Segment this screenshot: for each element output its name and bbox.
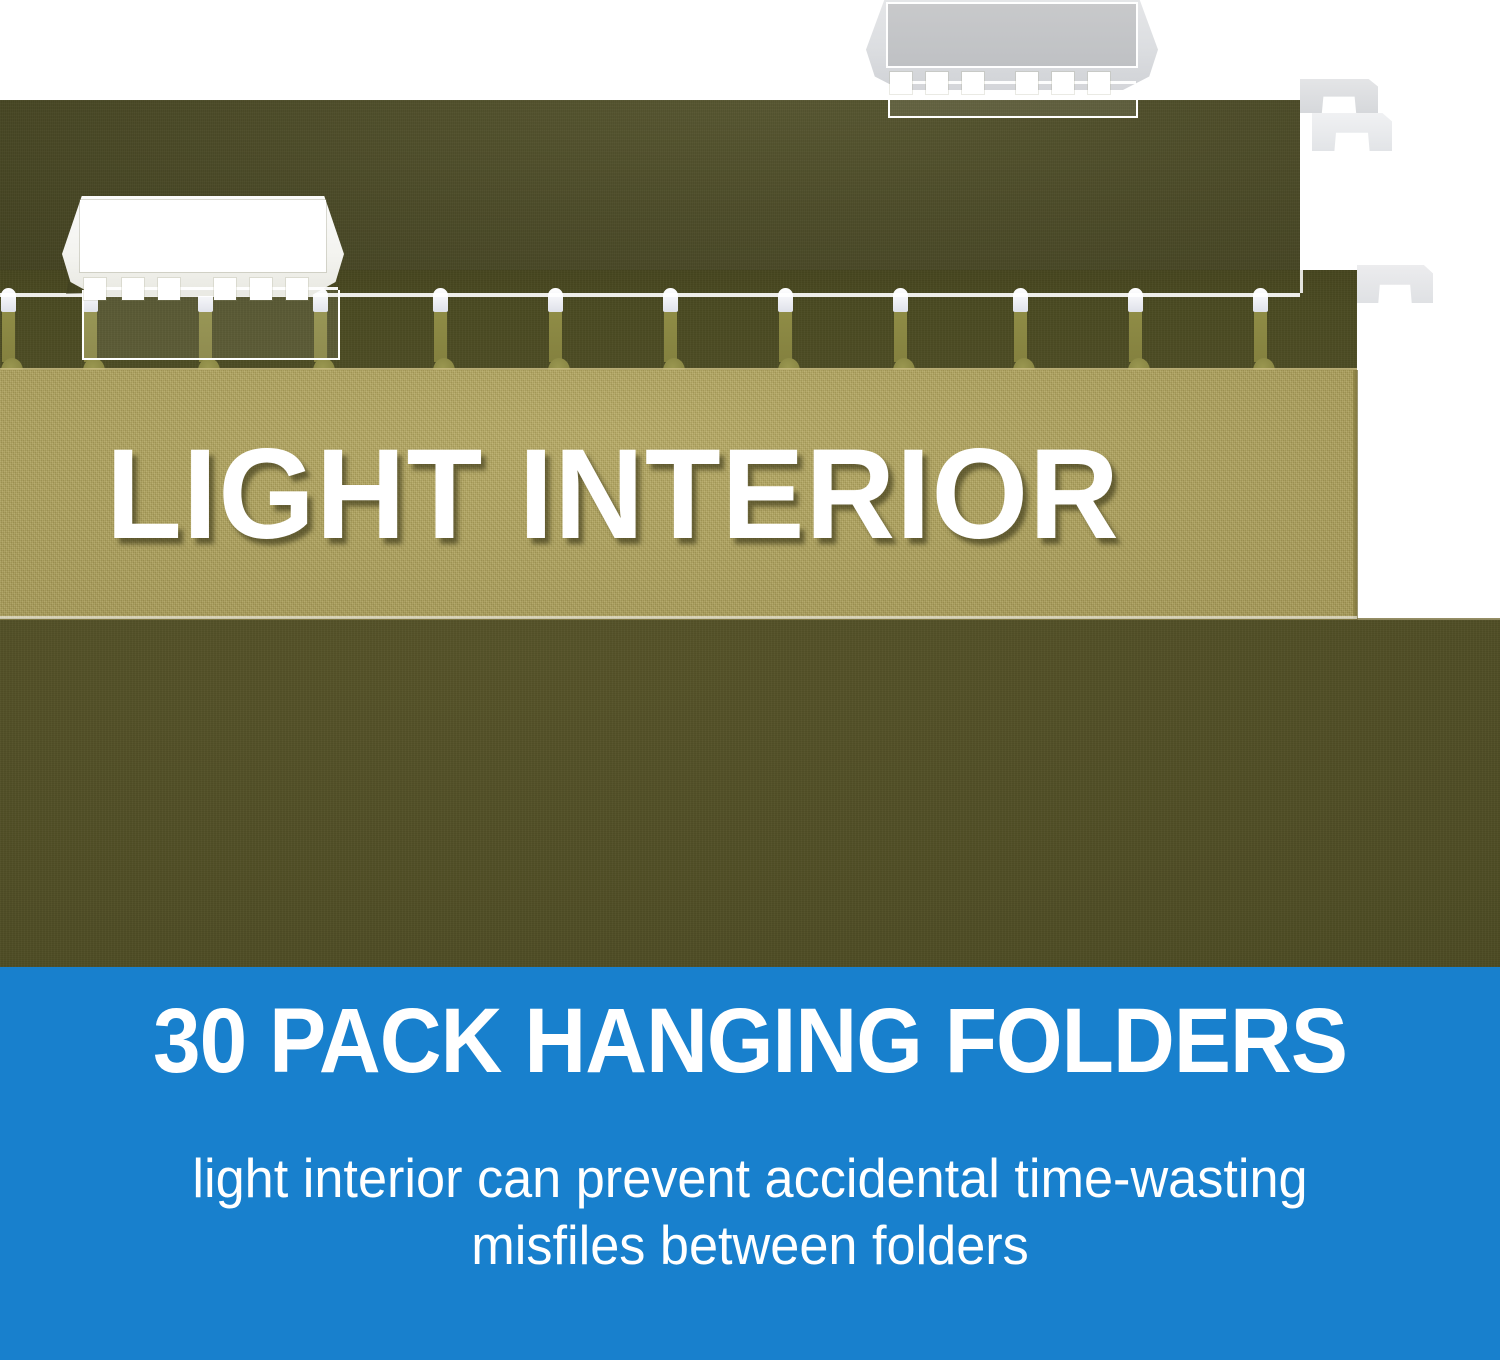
pin-cap-icon <box>1 288 16 312</box>
banner-subtext-line-1: light interior can prevent accidental ti… <box>38 1145 1463 1212</box>
hanging-hook-icon <box>1312 113 1392 151</box>
folder-panel-front <box>0 620 1500 967</box>
snap-square <box>962 72 984 94</box>
folder-seam <box>1300 100 1303 293</box>
pin-cap-icon <box>1013 288 1028 312</box>
left-tab-window <box>82 290 340 360</box>
snap-square <box>250 278 272 300</box>
hanging-hook-icon <box>1357 265 1433 303</box>
snap-square <box>1052 72 1074 94</box>
pin-stem <box>1014 312 1027 362</box>
hook-shape <box>1357 265 1433 303</box>
pin-stem <box>779 312 792 362</box>
snap-square <box>1016 72 1038 94</box>
hanging-hook-icon <box>1300 79 1378 113</box>
left-tab-insert-card[interactable] <box>80 200 326 272</box>
snap-square <box>926 72 948 94</box>
light-interior-overlay-text: LIGHT INTERIOR <box>106 430 1202 560</box>
product-feature-image: LIGHT INTERIOR <box>0 0 1500 1360</box>
pin-cap-icon <box>433 288 448 312</box>
pin-stem <box>2 312 15 362</box>
product-photo: LIGHT INTERIOR <box>0 0 1500 967</box>
snap-square <box>214 278 236 300</box>
pin-stem <box>549 312 562 362</box>
pin-stem <box>1254 312 1267 362</box>
hook-shape <box>1312 113 1392 151</box>
pin-cap-icon <box>663 288 678 312</box>
folder-seam <box>0 616 1357 619</box>
banner-subtext: light interior can prevent accidental ti… <box>38 1145 1463 1279</box>
snap-square <box>890 72 912 94</box>
hook-shape <box>1300 79 1378 113</box>
interior-right-edge <box>1353 370 1358 620</box>
pin-cap-icon <box>548 288 563 312</box>
pin-cap-icon <box>893 288 908 312</box>
top-tab-snap-row <box>890 72 1136 94</box>
banner-headline: 30 PACK HANGING FOLDERS <box>53 995 1448 1087</box>
snap-square <box>286 278 308 300</box>
pin-stem <box>664 312 677 362</box>
pin-cap-icon <box>1128 288 1143 312</box>
pin-stem <box>434 312 447 362</box>
left-tab-snap-row <box>84 278 338 300</box>
top-tab-insert-card[interactable] <box>886 2 1138 68</box>
pin-cap-icon <box>778 288 793 312</box>
snap-square <box>158 278 180 300</box>
banner-subtext-line-2: misfiles between folders <box>38 1212 1463 1279</box>
pin-stem <box>1129 312 1142 362</box>
pin-stem <box>894 312 907 362</box>
caption-banner: 30 PACK HANGING FOLDERS light interior c… <box>0 967 1500 1360</box>
snap-square <box>1088 72 1110 94</box>
snap-square <box>122 278 144 300</box>
snap-square <box>84 278 106 300</box>
pin-cap-icon <box>1253 288 1268 312</box>
